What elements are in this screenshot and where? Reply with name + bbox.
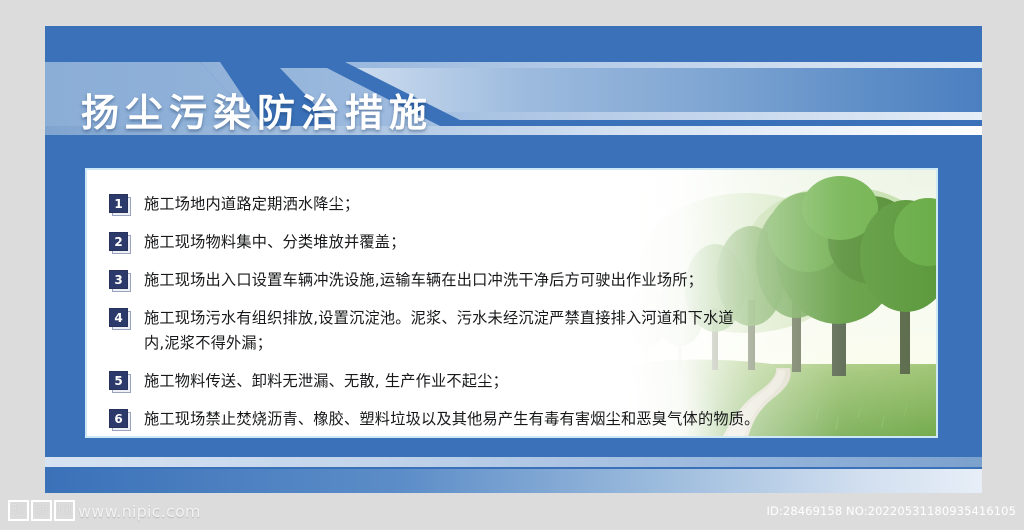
logo-char-1: 昵 [8,500,29,521]
list-item-line1: 施工场地内道路定期洒水降尘； [144,195,359,213]
list-number-badge: 5 [109,371,135,393]
content-card: 1 施工场地内道路定期洒水降尘； 2 施工现场物料集中、分类堆放并覆盖； [85,168,938,438]
watermark-footer: 昵 图 网 www.nipic.com ID:28469158 NO:20220… [0,494,1024,530]
badge-number: 3 [109,270,128,289]
list-item-line2: 内,泥浆不得外漏； [144,331,734,356]
list-item-text: 施工现场物料集中、分类堆放并覆盖； [144,230,406,255]
badge-number: 2 [109,232,128,251]
list-item-text: 施工物料传送、卸料无泄漏、无散, 生产作业不起尘； [144,369,508,394]
footer-blue-band [45,469,982,493]
measures-list: 1 施工场地内道路定期洒水降尘； 2 施工现场物料集中、分类堆放并覆盖； [87,170,936,436]
list-number-badge: 1 [109,194,135,216]
list-item-text: 施工场地内道路定期洒水降尘； [144,192,359,217]
list-item: 6 施工现场禁止焚烧沥青、橡胶、塑料垃圾以及其他易产生有毒有害烟尘和恶臭气体的物… [109,407,918,432]
page-title: 扬尘污染防治措施 [81,82,433,137]
badge-number: 6 [109,409,128,428]
list-number-badge: 3 [109,270,135,292]
badge-number: 5 [109,371,128,390]
logo-char-3: 网 [54,500,75,521]
list-item-line1: 施工现场污水有组织排放,设置沉淀池。泥浆、污水未经沉淀严禁直接排入河道和下水道 [144,309,734,327]
watermark-url: www.nipic.com [78,502,201,521]
list-number-badge: 2 [109,232,135,254]
list-item: 5 施工物料传送、卸料无泄漏、无散, 生产作业不起尘； [109,369,918,394]
nipic-logo: 昵 图 网 [8,500,75,521]
list-number-badge: 6 [109,409,135,431]
list-item: 1 施工场地内道路定期洒水降尘； [109,192,918,217]
badge-number: 4 [109,308,128,327]
list-item-line1: 施工现场禁止焚烧沥青、橡胶、塑料垃圾以及其他易产生有毒有害烟尘和恶臭气体的物质。 [144,410,760,428]
list-item: 2 施工现场物料集中、分类堆放并覆盖； [109,230,918,255]
list-item-line1: 施工物料传送、卸料无泄漏、无散, 生产作业不起尘； [144,372,508,390]
list-item-line1: 施工现场物料集中、分类堆放并覆盖； [144,233,406,251]
list-item-text: 施工现场污水有组织排放,设置沉淀池。泥浆、污水未经沉淀严禁直接排入河道和下水道 … [144,306,734,356]
list-item-text: 施工现场出入口设置车辆冲洗设施,运输车辆在出口冲洗干净后方可驶出作业场所； [144,268,703,293]
list-item: 4 施工现场污水有组织排放,设置沉淀池。泥浆、污水未经沉淀严禁直接排入河道和下水… [109,306,918,356]
poster-panel: 扬尘污染防治措施 [45,26,982,493]
logo-char-2: 图 [31,500,52,521]
footer-light-stripe [45,457,982,467]
list-item-text: 施工现场禁止焚烧沥青、橡胶、塑料垃圾以及其他易产生有毒有害烟尘和恶臭气体的物质。 [144,407,760,432]
badge-number: 1 [109,194,128,213]
watermark-id-text: ID:28469158 NO:20220531180935416105 [767,504,1016,518]
list-item: 3 施工现场出入口设置车辆冲洗设施,运输车辆在出口冲洗干净后方可驶出作业场所； [109,268,918,293]
list-number-badge: 4 [109,308,135,330]
list-item-line1: 施工现场出入口设置车辆冲洗设施,运输车辆在出口冲洗干净后方可驶出作业场所； [144,271,703,289]
